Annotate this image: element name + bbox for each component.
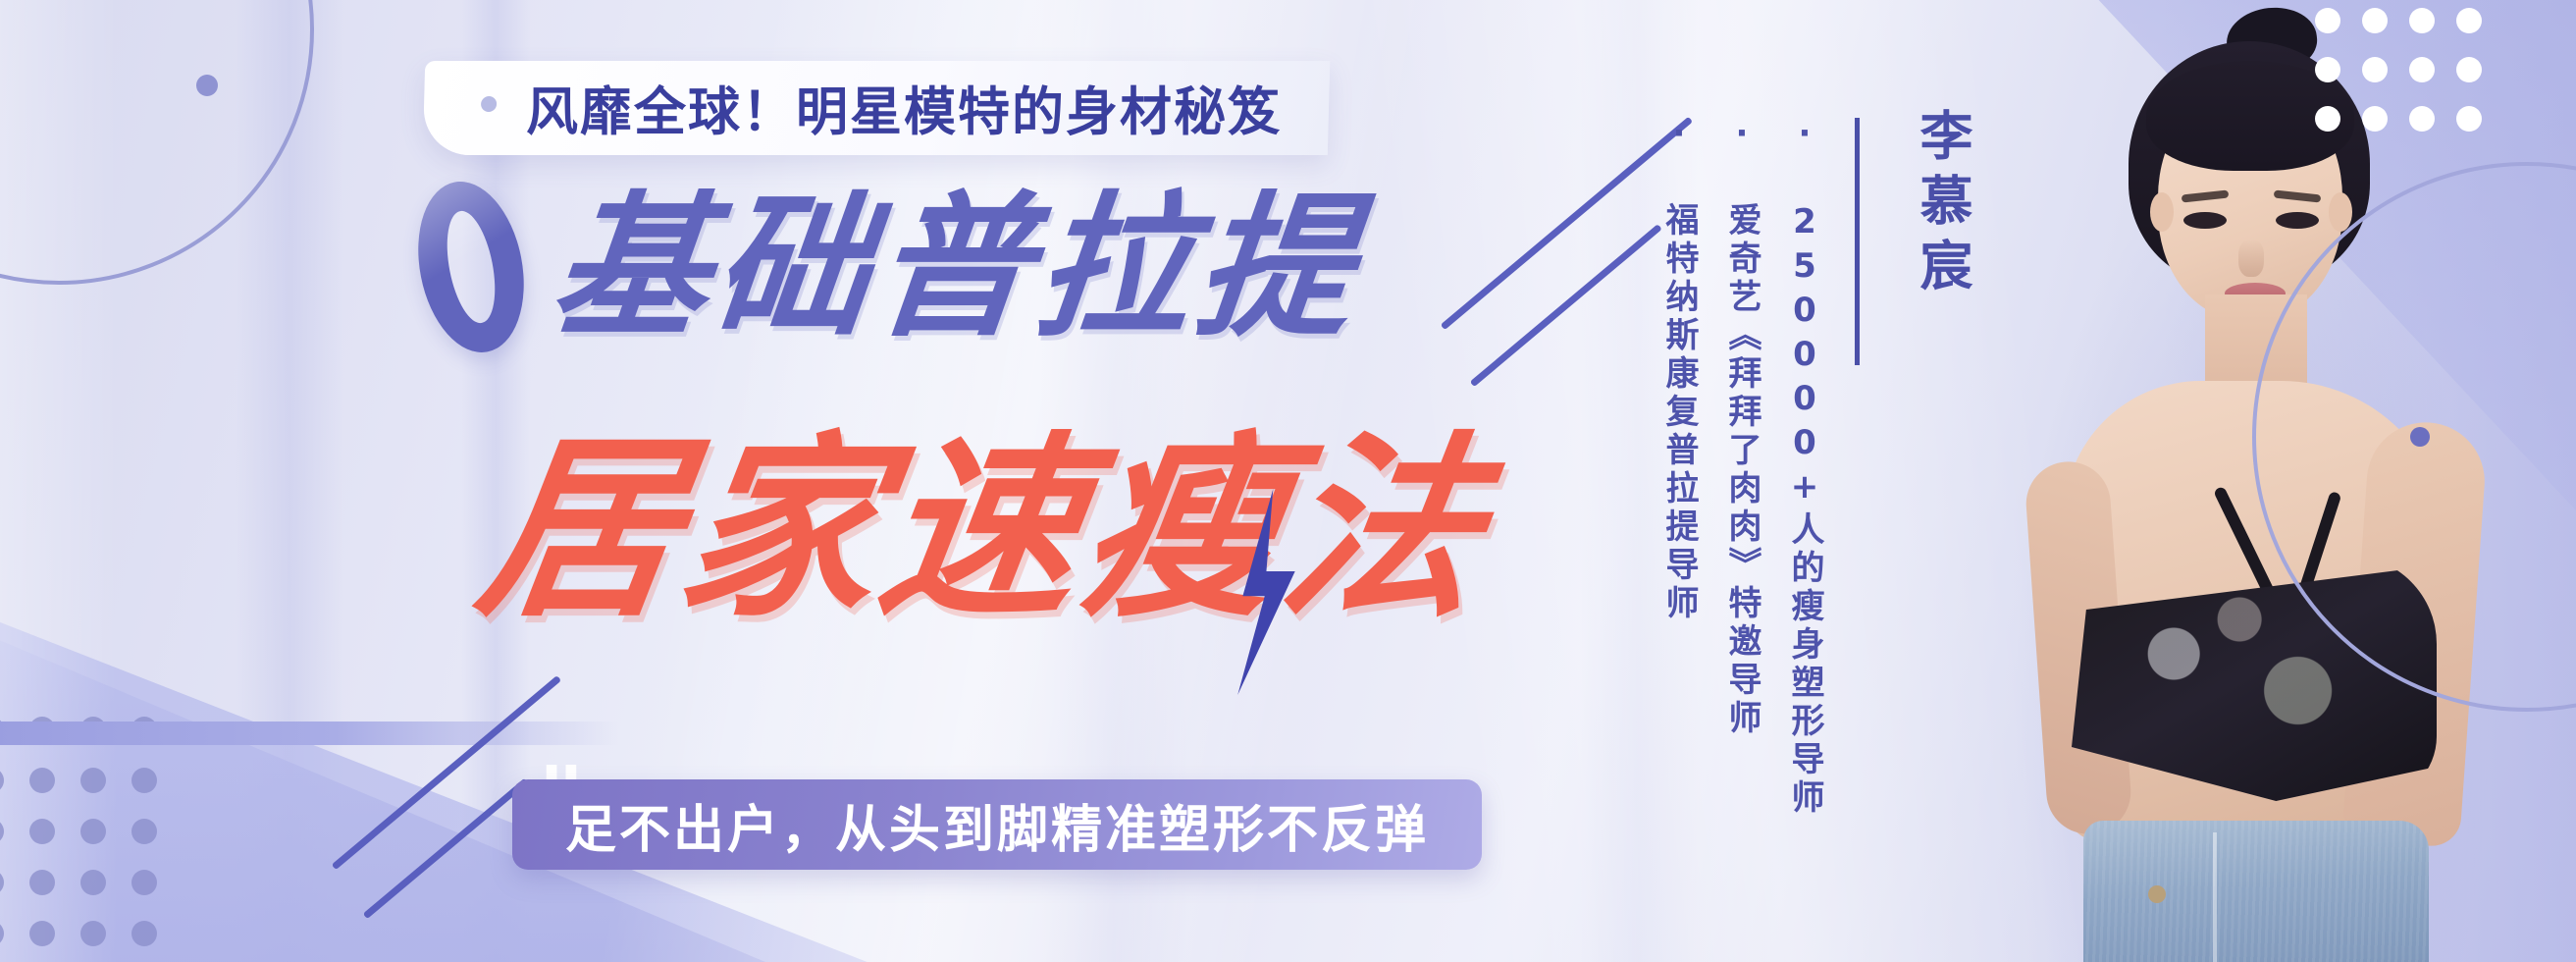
headline-primary-text: 基础普拉提 bbox=[546, 190, 1367, 346]
top-tagline-pill: 风靡全球！明星模特的身材秘笈 bbox=[423, 61, 1331, 155]
headline-secondary-text: 居家速瘦法 bbox=[469, 432, 1498, 628]
headline-primary: 基础普拉提 bbox=[412, 175, 1358, 361]
instructor-credential: · 250000+人的瘦身塑形导师 bbox=[1788, 108, 1821, 818]
horizontal-bar-icon bbox=[0, 721, 618, 745]
promo-banner: 风靡全球！明星模特的身材秘笈 基础普拉提 居家速瘦法 " 足不出户，从头到脚精准… bbox=[0, 0, 2576, 962]
zero-glyph-icon bbox=[412, 175, 538, 361]
dot-icon bbox=[196, 75, 218, 96]
arm-left bbox=[2024, 458, 2133, 836]
bottom-tagline-pill: 足不出户，从头到脚精准塑形不反弹 bbox=[512, 779, 1482, 870]
bottom-tagline-text: 足不出户，从头到脚精准塑形不反弹 bbox=[565, 788, 1429, 862]
instructor-credential: · 爱奇艺《拜拜了肉肉》特邀导师 bbox=[1725, 108, 1759, 738]
instructor-credential: · 福特纳斯康复普拉提导师 bbox=[1662, 108, 1696, 623]
dot-icon bbox=[481, 96, 497, 112]
dot-grid-icon bbox=[2315, 8, 2503, 155]
dot-grid-icon bbox=[0, 717, 183, 962]
instructor-block: 李慕宸 · 250000+人的瘦身塑形导师 · 爱奇艺《拜拜了肉肉》特邀导师 ·… bbox=[1662, 108, 1968, 913]
instructor-divider bbox=[1855, 118, 1860, 365]
top-tagline-text: 风靡全球！明星模特的身材秘笈 bbox=[526, 71, 1282, 145]
instructor-name: 李慕宸 bbox=[1915, 108, 1968, 302]
dot-icon bbox=[2410, 427, 2430, 447]
